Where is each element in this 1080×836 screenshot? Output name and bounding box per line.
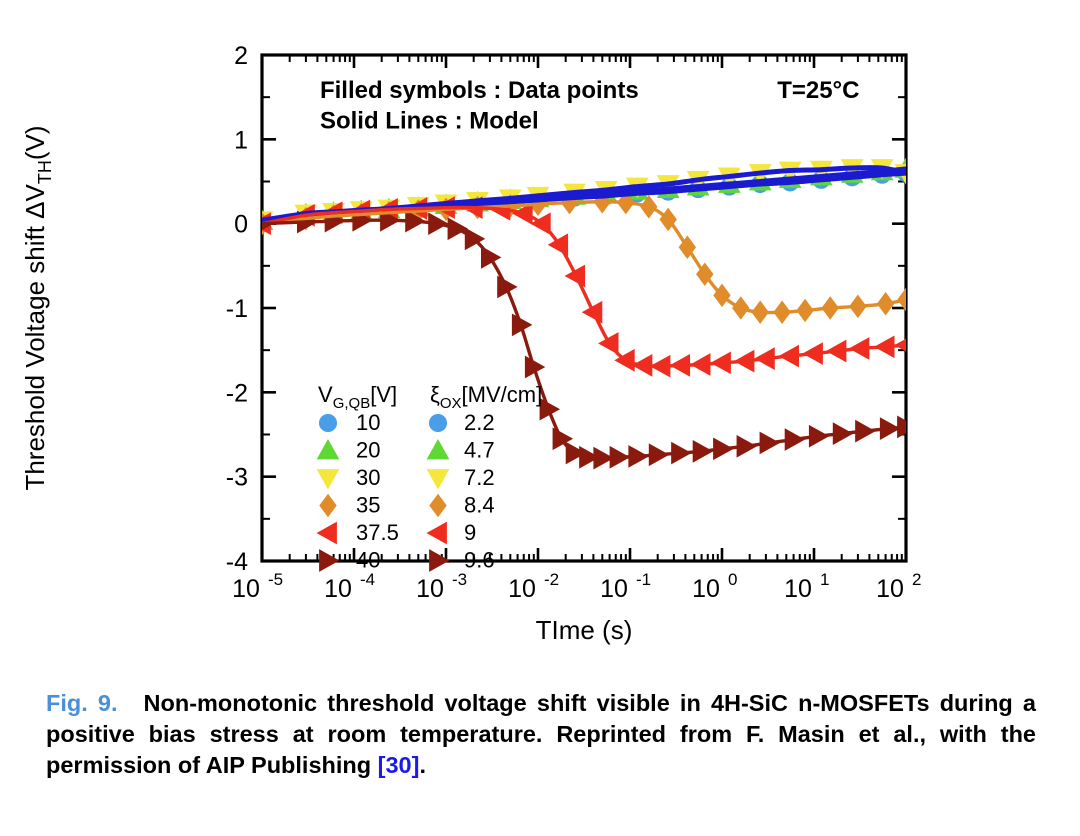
x-tick-label-exponent: 2: [912, 570, 921, 589]
legend-row[interactable]: 102.2: [319, 410, 494, 435]
data-point-triangle-down: [428, 470, 449, 489]
legend-value-vg: 30: [356, 465, 380, 490]
x-tick-label-exponent: -5: [268, 570, 283, 589]
x-tick-label: 10: [416, 575, 444, 603]
legend-value-vg: 37.5: [356, 520, 399, 545]
y-label-unit: (V): [20, 125, 50, 160]
figure-caption: Fig. 9.Non-monotonic threshold voltage s…: [46, 688, 1036, 781]
x-tick-label: 10: [324, 575, 352, 603]
legend-row[interactable]: 307.2: [318, 465, 495, 490]
chart-annotations: Filled symbols : Data pointsSolid Lines …: [320, 77, 860, 134]
y-axis-title-text: Threshold Voltage shift ΔVTH(V): [20, 125, 55, 490]
data-point-diamond: [320, 495, 336, 517]
x-tick-label-exponent: 0: [728, 570, 737, 589]
x-tick-label-exponent: -4: [360, 570, 375, 589]
y-tick-label: -4: [226, 548, 248, 576]
x-tick-label-exponent: -2: [544, 570, 559, 589]
data-point-triangle-up: [318, 440, 339, 459]
chart-legend: VG,QB[V]ξOX[MV/cm]102.2204.7307.2358.437…: [318, 382, 543, 573]
y-tick-label: -3: [226, 464, 248, 492]
temperature-note: T=25°C: [777, 77, 859, 104]
x-tick-label-exponent: -3: [452, 570, 467, 589]
y-label-prefix: Threshold Voltage shift: [20, 219, 50, 491]
x-axis-tick-labels: 10-510-410-310-210-1100101102: [232, 570, 921, 603]
legend-value-vg: 35: [356, 493, 380, 518]
y-label-sub: TH: [35, 160, 55, 184]
x-axis-title-text: TIme (s): [536, 615, 633, 645]
solid-lines-note: Solid Lines : Model: [320, 107, 539, 134]
y-axis-title: Threshold Voltage shift ΔVTH(V): [20, 125, 55, 490]
x-tick-label: 10: [876, 575, 904, 603]
series-4-model-line: [262, 207, 906, 366]
data-point-triangle-right: [320, 550, 339, 571]
legend-value-eox: 4.7: [464, 438, 495, 463]
data-series-group: [252, 158, 917, 468]
x-tick-label: 10: [692, 575, 720, 603]
chart-plot-area: 10-510-410-310-210-1100101102210-1-2-3-4…: [0, 0, 1080, 700]
legend-header-eox: ξOX[MV/cm]: [430, 382, 542, 412]
y-tick-label: -1: [226, 295, 248, 323]
legend-row[interactable]: 37.59: [318, 520, 477, 545]
data-point-circle: [319, 414, 336, 431]
y-axis-tick-labels: 210-1-2-3-4: [226, 42, 248, 576]
legend-value-vg: 10: [356, 410, 380, 435]
series-5-markers: [254, 210, 917, 469]
data-point-triangle-down: [318, 470, 339, 489]
x-tick-label-exponent: 1: [820, 570, 829, 589]
x-tick-label: 10: [600, 575, 628, 603]
y-axis-title-rot: Threshold Voltage shift ΔVTH(V): [20, 125, 55, 490]
y-label-delta: ΔV: [20, 183, 50, 218]
x-tick-label: 10: [508, 575, 536, 603]
legend-value-eox: 7.2: [464, 465, 495, 490]
x-tick-label: 10: [784, 575, 812, 603]
legend-value-eox: 8.4: [464, 493, 495, 518]
y-tick-label: 0: [234, 211, 248, 239]
data-point-triangle-up: [428, 440, 449, 459]
x-axis-title: TIme (s): [536, 615, 633, 645]
legend-value-eox: 2.2: [464, 410, 495, 435]
data-point-diamond: [430, 495, 446, 517]
legend-row[interactable]: 358.4: [320, 493, 495, 518]
caption-period: .: [419, 752, 426, 778]
figure-number: Fig. 9.: [46, 690, 118, 716]
x-tick-label: 10: [232, 575, 260, 603]
threshold-voltage-shift-chart: 10-510-410-310-210-1100101102210-1-2-3-4…: [0, 0, 1080, 700]
filled-symbols-note: Filled symbols : Data points: [320, 77, 639, 104]
legend-value-vg: 40: [356, 548, 380, 573]
legend-header-vg: VG,QB[V]: [318, 382, 397, 412]
y-tick-label: 2: [234, 42, 248, 70]
data-point-circle: [429, 414, 446, 431]
legend-value-eox: 9.6: [464, 548, 495, 573]
reference-link[interactable]: [30]: [378, 752, 420, 778]
data-point-triangle-left: [428, 523, 447, 544]
caption-body: Non-monotonic threshold voltage shift vi…: [46, 690, 1036, 778]
x-tick-label-exponent: -1: [636, 570, 651, 589]
legend-value-eox: 9: [464, 520, 476, 545]
y-tick-label: 1: [234, 126, 248, 154]
figure-container: 10-510-410-310-210-1100101102210-1-2-3-4…: [0, 0, 1080, 836]
data-point-triangle-left: [318, 523, 337, 544]
legend-value-vg: 20: [356, 438, 380, 463]
y-tick-label: -2: [226, 379, 248, 407]
legend-row[interactable]: 204.7: [318, 438, 495, 463]
